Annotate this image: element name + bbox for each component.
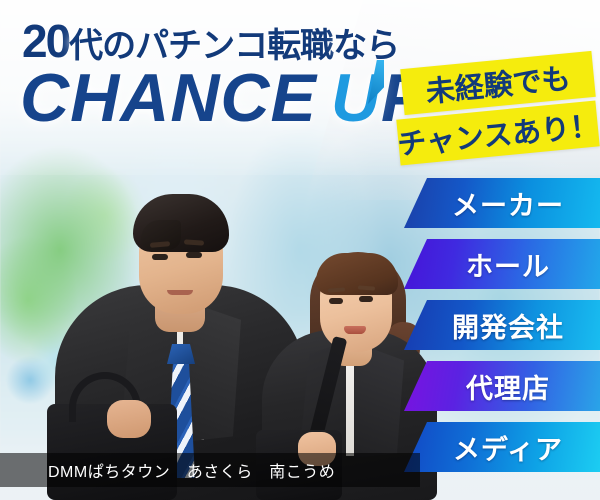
businessman-hair <box>133 194 229 252</box>
category-pill-media-label: メディア <box>437 428 563 467</box>
category-pill-maker[interactable]: メーカー <box>404 178 600 228</box>
promo-banner[interactable]: 20代のパチンコ転職なら CHANCEUP 未経験でも チャンスあり！ メーカー… <box>0 0 600 500</box>
category-pill-media[interactable]: メディア <box>404 422 600 472</box>
businesswoman-eye-right <box>359 296 373 302</box>
category-pill-hall[interactable]: ホール <box>404 239 600 289</box>
category-pill-hall-label: ホール <box>450 245 550 284</box>
category-pill-development-company[interactable]: 開発会社 <box>404 300 600 350</box>
businessman-eye-right <box>186 252 202 258</box>
credit-bar-text: DMMぱちタウン あさくら 南こうめ <box>0 458 335 482</box>
credit-bar: DMMぱちタウン あさくら 南こうめ <box>0 453 420 487</box>
category-pill-list: メーカー ホール 開発会社 代理店 メディア <box>404 178 600 483</box>
people-photo-group <box>0 140 420 500</box>
chance-up-logo: CHANCEUP <box>20 64 427 132</box>
category-pill-development-company-label: 開発会社 <box>436 306 564 345</box>
businessman-eye-left <box>152 254 168 260</box>
category-pill-maker-label: メーカー <box>436 184 564 223</box>
businessman-hand <box>107 400 151 438</box>
category-pill-agency[interactable]: 代理店 <box>404 361 600 411</box>
logo-letter-u: U <box>331 64 381 132</box>
businesswoman-mouth <box>344 326 366 334</box>
businesswoman-eye-left <box>329 298 343 304</box>
businessman-mouth <box>167 290 193 295</box>
logo-word-chance: CHANCE <box>20 60 317 136</box>
category-pill-agency-label: 代理店 <box>450 367 550 406</box>
